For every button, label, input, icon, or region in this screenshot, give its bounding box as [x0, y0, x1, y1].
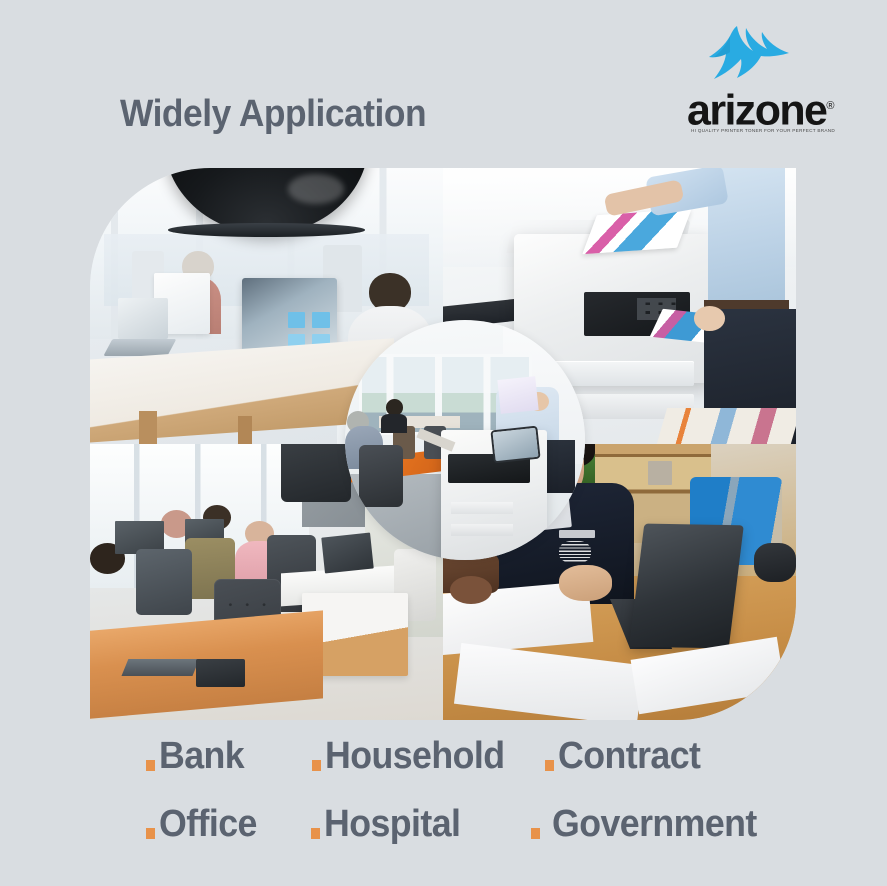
color-printout: [583, 209, 692, 254]
bird-logo-icon: [701, 24, 797, 88]
screen-widget: [312, 312, 330, 329]
application-label: Contract: [558, 734, 700, 778]
application-item-contract: Contract: [545, 734, 709, 778]
brand-logo: arizone® HI QUALITY PRINTER TONER FOR YO…: [687, 24, 839, 134]
application-item-office: Office: [146, 802, 263, 846]
page-title: Widely Application: [120, 93, 426, 136]
bullet-icon: [531, 828, 540, 839]
pendant-lamp-rim: [168, 223, 366, 237]
uniform-crest-text: [559, 530, 594, 538]
application-label: Office: [159, 802, 257, 846]
collage-circle-inset: [345, 320, 585, 560]
uniform-crest: [559, 541, 591, 563]
person-hand: [694, 306, 726, 331]
application-label: Household: [325, 734, 504, 778]
copier-tray: [451, 524, 513, 536]
person-hand: [754, 543, 796, 582]
bullet-icon: [545, 760, 554, 771]
application-label: Bank: [159, 734, 244, 778]
application-item-government: Government: [531, 802, 770, 846]
slide-root: Widely Application arizone® HI QUALITY P…: [0, 0, 887, 886]
copier-body-dark: [448, 454, 530, 483]
application-item-household: Household: [312, 734, 516, 778]
person-body: [547, 440, 576, 493]
office-chair: [359, 445, 402, 507]
bullet-icon: [146, 760, 155, 771]
desk-phone: [196, 659, 245, 687]
bullet-icon: [146, 828, 155, 839]
application-item-bank: Bank: [146, 734, 250, 778]
office-chair: [136, 549, 192, 615]
copier-tray: [451, 502, 513, 514]
office-chair: [281, 444, 352, 502]
application-label: Government: [552, 802, 757, 846]
person-body: [381, 414, 407, 433]
desk-leg: [238, 416, 252, 444]
copier-touchscreen: [492, 428, 538, 461]
application-row-1: Bank Household Contract: [146, 734, 887, 778]
application-item-hospital: Hospital: [311, 802, 469, 846]
brand-tagline: HI QUALITY PRINTER TONER FOR YOUR PERFEC…: [691, 128, 844, 133]
desk-leg: [139, 411, 157, 444]
brand-wordmark: arizone®: [687, 84, 839, 132]
header: Widely Application arizone® HI QUALITY P…: [0, 0, 887, 160]
screen-widget: [288, 312, 306, 329]
laptop: [118, 298, 167, 339]
pendant-lamp-highlight: [288, 174, 344, 204]
tablet-device: [629, 524, 743, 649]
laptop-base: [103, 339, 175, 356]
printed-brochures: [657, 408, 796, 444]
shelf-item: [648, 461, 673, 486]
application-label: Hospital: [324, 802, 460, 846]
keyboard: [122, 659, 199, 676]
paper-sheet: [497, 376, 539, 413]
bullet-icon: [311, 828, 320, 839]
application-list: Bank Household Contract Office Hospital: [0, 726, 887, 886]
application-image-collage: [90, 168, 796, 720]
registered-mark: ®: [826, 100, 834, 112]
bullet-icon: [312, 760, 321, 771]
person-hand: [559, 565, 612, 601]
application-row-2: Office Hospital Government: [146, 802, 887, 846]
